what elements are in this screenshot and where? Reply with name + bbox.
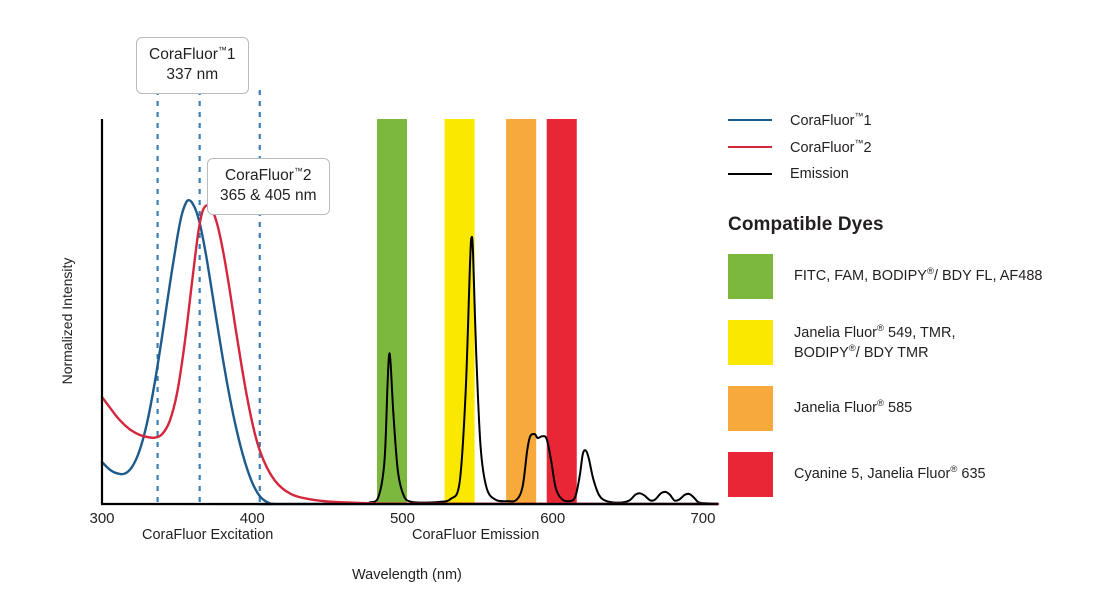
y-axis-label: Normalized Intensity: [59, 241, 75, 401]
legend-line-swatch-emission: [728, 173, 772, 175]
x-tick-600: 600: [528, 510, 578, 527]
legend-corafluor1-index: 1: [863, 112, 871, 128]
dye-orange-label: Janelia Fluor® 585: [794, 386, 912, 418]
compatible-dyes-list: FITC, FAM, BODIPY®/ BDY FL, AF488Janelia…: [728, 254, 1110, 497]
trademark-icon: ™: [218, 45, 227, 55]
dye-red-label-line1: Cyanine 5, Janelia Fluor® 635: [794, 464, 986, 484]
green-band: [377, 119, 407, 504]
legend-corafluor1-name: CoraFluor: [790, 112, 854, 128]
legend-corafluor1: CoraFluor™1: [728, 106, 1110, 133]
dye-yellow-label-line2-a: BODIPY: [794, 345, 849, 361]
dye-yellow-label-line1-b: 549, TMR,: [884, 325, 955, 341]
dye-yellow-label-line1-a: Janelia Fluor: [794, 325, 877, 341]
x-tick-700: 700: [678, 510, 728, 527]
corafluor2-callout-name: CoraFluor: [225, 167, 294, 184]
x-axis-label: Wavelength (nm): [352, 567, 462, 583]
registered-trademark-icon: ®: [877, 323, 884, 334]
curve-corafluor1: [102, 200, 718, 504]
yellow-band: [445, 119, 475, 504]
dye-orange-label-line1-b: 585: [884, 400, 912, 416]
legend-emission: Emission: [728, 160, 1110, 187]
dye-yellow-label-line2: BODIPY®/ BDY TMR: [794, 343, 955, 363]
legend-corafluor2: CoraFluor™2: [728, 133, 1110, 160]
dye-yellow-swatch: [728, 320, 773, 365]
dye-green-label: FITC, FAM, BODIPY®/ BDY FL, AF488: [794, 254, 1042, 286]
dye-yellow-label-line2-b: / BDY TMR: [856, 345, 929, 361]
corafluor1-callout: CoraFluor™1 337 nm: [136, 37, 249, 94]
corafluor1-callout-wavelength: 337 nm: [149, 65, 236, 85]
red-band: [547, 119, 577, 504]
orange-band: [506, 119, 536, 504]
curve-corafluor2: [102, 205, 718, 504]
dye-green-label-line1-b: / BDY FL, AF488: [934, 268, 1043, 284]
legend-corafluor2-name: CoraFluor: [790, 139, 854, 155]
dye-red-row: Cyanine 5, Janelia Fluor® 635: [728, 452, 1110, 497]
x-tick-400: 400: [227, 510, 277, 527]
legend-emission-name: Emission: [790, 166, 849, 182]
compatible-dyes-heading: Compatible Dyes: [728, 214, 1110, 236]
dye-red-label-line1-b: 635: [957, 466, 985, 482]
registered-trademark-icon: ®: [849, 343, 856, 354]
legend-line-swatch-corafluor2: [728, 146, 772, 148]
dye-red-swatch: [728, 452, 773, 497]
corafluor2-callout: CoraFluor™2 365 & 405 nm: [207, 158, 330, 215]
dye-orange-label-line1-a: Janelia Fluor: [794, 400, 877, 416]
dye-green-row: FITC, FAM, BODIPY®/ BDY FL, AF488: [728, 254, 1110, 299]
registered-trademark-icon: ®: [927, 266, 934, 277]
emission-region-caption: CoraFluor Emission: [412, 527, 539, 543]
corafluor1-callout-index: 1: [227, 46, 236, 63]
registered-trademark-icon: ®: [877, 398, 884, 409]
dye-green-label-line1-a: FITC, FAM, BODIPY: [794, 268, 927, 284]
x-tick-500: 500: [377, 510, 427, 527]
legend-corafluor2-index: 2: [863, 139, 871, 155]
dye-yellow-label-line1: Janelia Fluor® 549, TMR,: [794, 323, 955, 343]
corafluor1-callout-name: CoraFluor: [149, 46, 218, 63]
trademark-icon: ™: [294, 166, 303, 176]
corafluor2-callout-index: 2: [303, 167, 312, 184]
dye-red-label-line1-a: Cyanine 5, Janelia Fluor: [794, 466, 950, 482]
legend-line-swatch-corafluor1: [728, 119, 772, 121]
spectra-figure: CoraFluor™1 337 nm CoraFluor™2 365 & 405…: [0, 0, 740, 612]
corafluor2-callout-wavelength: 365 & 405 nm: [220, 186, 317, 206]
excitation-region-caption: CoraFluor Excitation: [142, 527, 273, 543]
dye-orange-swatch: [728, 386, 773, 431]
curve-emission: [102, 237, 718, 504]
dye-orange-label-line1: Janelia Fluor® 585: [794, 398, 912, 418]
dye-red-label: Cyanine 5, Janelia Fluor® 635: [794, 452, 986, 484]
dye-yellow-label: Janelia Fluor® 549, TMR,BODIPY®/ BDY TMR: [794, 320, 955, 363]
dye-green-label-line1: FITC, FAM, BODIPY®/ BDY FL, AF488: [794, 266, 1042, 286]
x-tick-300: 300: [77, 510, 127, 527]
chart-page: CoraFluor™1 337 nm CoraFluor™2 365 & 405…: [0, 0, 1110, 612]
dye-yellow-row: Janelia Fluor® 549, TMR,BODIPY®/ BDY TMR: [728, 320, 1110, 365]
series-legend: CoraFluor™1 CoraFluor™2 Emission: [728, 106, 1110, 187]
dye-green-swatch: [728, 254, 773, 299]
dye-orange-row: Janelia Fluor® 585: [728, 386, 1110, 431]
legend-panel: CoraFluor™1 CoraFluor™2 Emission Compati…: [728, 106, 1110, 518]
